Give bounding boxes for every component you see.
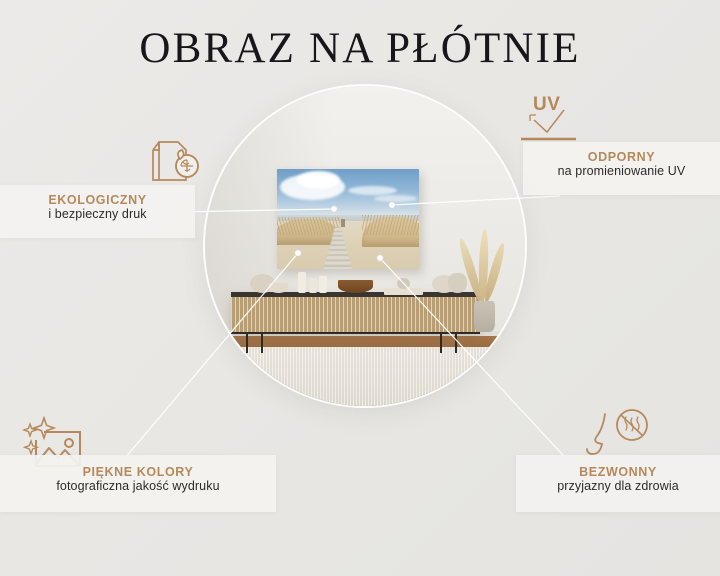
feature-title-eco: EKOLOGICZNY: [0, 193, 195, 207]
feature-card-uv: ODPORNY na promieniowanie UV: [523, 142, 720, 195]
canvas-artwork: [277, 169, 419, 270]
area-rug: [218, 347, 525, 406]
beach-post: [341, 219, 345, 227]
dune-grass-right: [362, 215, 419, 235]
cloud: [297, 171, 340, 189]
cloud: [374, 195, 417, 202]
feature-title-smell: BEZWONNY: [516, 465, 720, 479]
decor-candle: [298, 272, 306, 294]
decor-books: [384, 288, 422, 294]
decor-candle: [309, 278, 317, 293]
product-scene-photo: [205, 86, 525, 406]
sideboard-slats: [231, 297, 481, 332]
page-title: OBRAZ NA PŁÓTNIE: [0, 26, 720, 71]
feature-subtitle-colors: fotograficzna jakość wydruku: [0, 479, 276, 493]
uv-icon-label: UV: [533, 94, 560, 116]
feature-title-colors: PIĘKNE KOLORY: [0, 465, 276, 479]
cloud: [348, 186, 396, 195]
feature-card-colors: PIĘKNE KOLORY fotograficzna jakość wydru…: [0, 455, 276, 512]
decor-candle: [319, 276, 327, 293]
decor-stone-sphere: [397, 278, 410, 289]
sideboard: [231, 292, 481, 332]
feature-card-eco: EKOLOGICZNY i bezpieczny druk: [0, 185, 195, 238]
sideboard-legs: [231, 332, 481, 353]
feature-card-smell: BEZWONNY przyjazny dla zdrowia: [516, 455, 720, 512]
pampas-grass-plant: [448, 227, 518, 333]
dune-grass-left: [277, 217, 340, 235]
feature-subtitle-eco: i bezpieczny druk: [0, 207, 195, 221]
feature-subtitle-smell: przyjazny dla zdrowia: [516, 479, 720, 493]
feature-title-uv: ODPORNY: [523, 150, 720, 164]
infographic-root: OBRAZ NA PŁÓTNIE: [0, 0, 720, 576]
feature-subtitle-uv: na promieniowanie UV: [523, 164, 720, 178]
floor-vase: [474, 301, 495, 333]
